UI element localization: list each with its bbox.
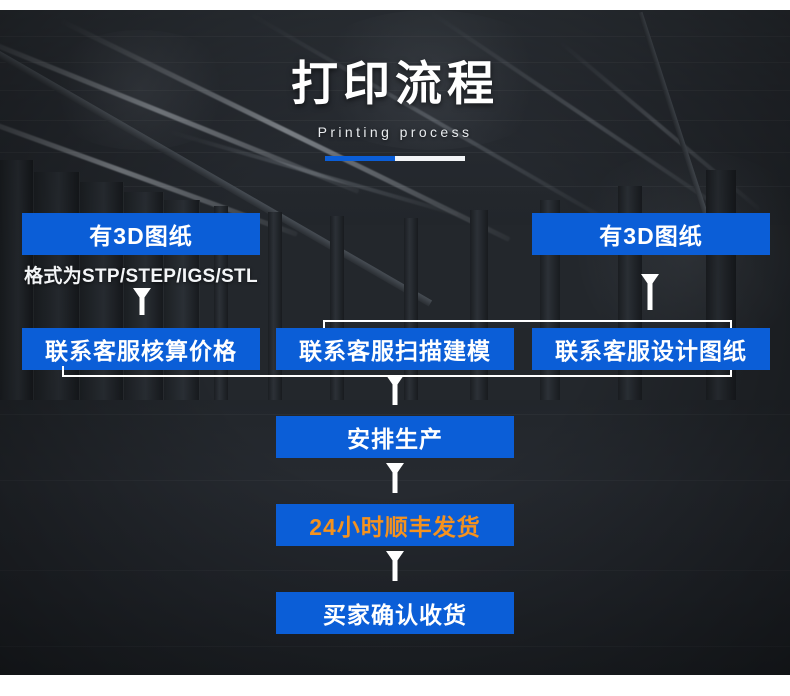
- flow-box-has-3d-drawing-right[interactable]: 有3D图纸: [532, 213, 770, 255]
- flow-box-buyer-confirms-receipt[interactable]: 买家确认收货: [276, 592, 514, 634]
- arrow-down-icon: [383, 463, 407, 504]
- flow-box-contact-service-scan-model[interactable]: 联系客服扫描建模: [276, 328, 514, 370]
- title-underline-bar: [325, 156, 465, 161]
- arrow-down-icon: [638, 274, 662, 322]
- printing-process-infographic: 打印流程 Printing process 有3D图纸 格式为STP/STEP/…: [0, 0, 790, 696]
- top-white-margin: [0, 0, 790, 10]
- page-title: 打印流程: [0, 60, 790, 107]
- flow-box-arrange-production[interactable]: 安排生产: [276, 416, 514, 458]
- bottom-white-margin: [0, 675, 790, 696]
- underline-segment-white: [395, 156, 465, 161]
- arrow-down-icon: [383, 375, 407, 416]
- flow-box-contact-service-design-drawing[interactable]: 联系客服设计图纸: [532, 328, 770, 370]
- flow-note-file-formats: 格式为STP/STEP/IGS/STL: [22, 261, 260, 288]
- arrow-down-icon: [130, 288, 154, 326]
- flow-box-24h-sf-express-shipping[interactable]: 24小时顺丰发货: [276, 504, 514, 546]
- connector-line-top-horizontal: [323, 320, 732, 322]
- connector-line-left-vertical: [62, 366, 64, 377]
- flow-box-has-3d-drawing-left[interactable]: 有3D图纸: [22, 213, 260, 255]
- flow-box-contact-service-quote[interactable]: 联系客服核算价格: [22, 328, 260, 370]
- underline-segment-blue: [325, 156, 395, 161]
- arrow-down-icon: [383, 551, 407, 592]
- page-subtitle: Printing process: [0, 124, 790, 140]
- page-header: 打印流程 Printing process: [0, 60, 790, 161]
